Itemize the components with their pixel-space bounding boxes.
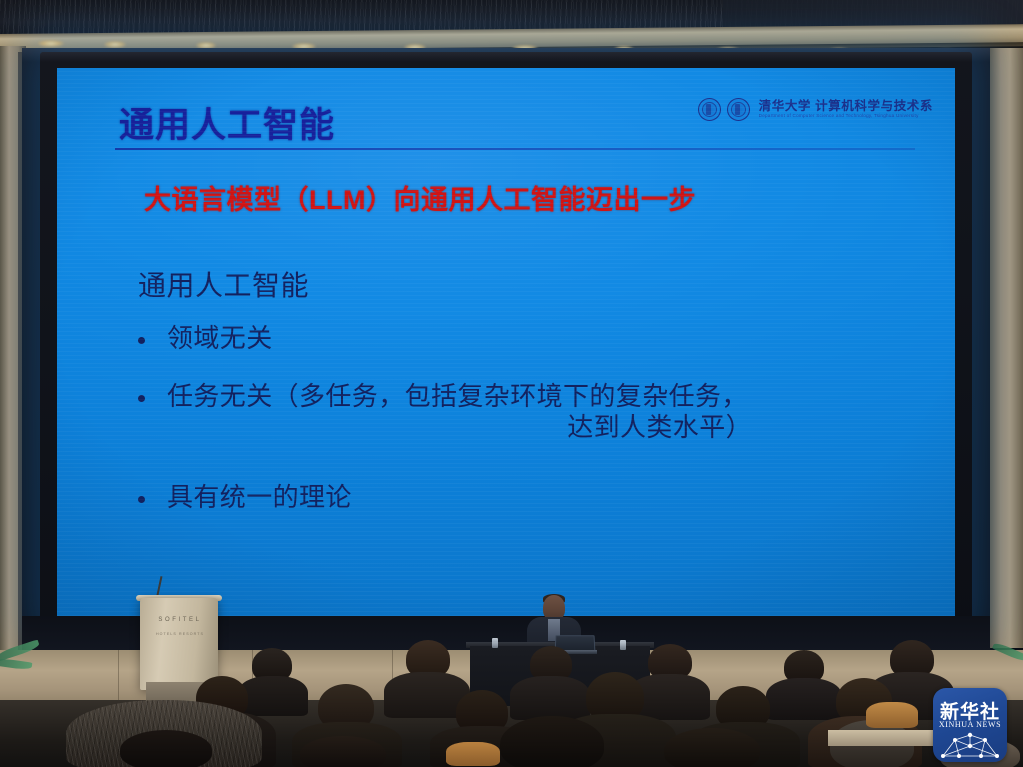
- slide-bullet-1: 领域无关: [138, 323, 273, 354]
- slide-bullet-2: 任务无关（多任务，包括复杂环境下的复杂任务， 达到人类水平）: [138, 381, 867, 442]
- presentation-slide: 通用人工智能 大语言模型（LLM）向通用人工智能迈出一步 通用人工智能 领域无关…: [57, 68, 955, 616]
- wall-pillar-right: [986, 48, 1023, 648]
- audience-head: [300, 736, 386, 767]
- watermark-text-en: XINHUA NEWS: [933, 720, 1007, 729]
- logo-text-en: Department of Computer Science and Techn…: [759, 114, 933, 119]
- audience-head: [500, 716, 604, 767]
- audience-shoulders: [766, 678, 842, 720]
- bullet-dot-icon: [138, 496, 145, 503]
- audience-shoulders: [510, 676, 590, 720]
- cs-dept-seal-icon: [727, 98, 750, 121]
- tsinghua-cs-logo: 清华大学 计算机科学与技术系 Department of Computer Sc…: [698, 98, 933, 121]
- tsinghua-seal-icon: [698, 98, 721, 121]
- slide-bullet-2-line1: 任务无关（多任务，包括复杂环境下的复杂任务，: [167, 381, 748, 411]
- screen-frame-sheen: [22, 48, 990, 62]
- audience-head: [664, 728, 760, 767]
- slide-bullet-2-text-block: 任务无关（多任务，包括复杂环境下的复杂任务， 达到人类水平）: [167, 381, 867, 442]
- slide-bullet-2-line2: 达到人类水平）: [167, 412, 867, 443]
- logo-text-cn: 清华大学 计算机科学与技术系: [759, 100, 933, 113]
- xinhua-news-watermark: 新华社 XINHUA NEWS: [933, 688, 1007, 762]
- slide-bullet-3-text: 具有统一的理论: [167, 482, 352, 513]
- bullet-dot-icon: [138, 395, 145, 402]
- slide-title-underline: [115, 148, 915, 150]
- slide-subtitle: 大语言模型（LLM）向通用人工智能迈出一步: [144, 178, 696, 217]
- water-glass: [492, 638, 498, 648]
- slide-section-heading: 通用人工智能: [138, 264, 309, 304]
- slide-title: 通用人工智能: [119, 97, 335, 148]
- podium: [140, 598, 218, 690]
- table-object: [446, 742, 500, 766]
- bullet-dot-icon: [138, 337, 145, 344]
- network-globe-icon: [933, 730, 1007, 762]
- logo-wordmark: 清华大学 计算机科学与技术系 Department of Computer Sc…: [759, 100, 933, 119]
- slide-bullet-3: 具有统一的理论: [138, 482, 352, 513]
- podium-brand-subtext: HOTELS RESORTS: [152, 632, 208, 637]
- conference-photo-scene: 通用人工智能 大语言模型（LLM）向通用人工智能迈出一步 通用人工智能 领域无关…: [0, 0, 1023, 767]
- slide-bullet-1-text: 领域无关: [167, 323, 273, 354]
- water-glass: [620, 640, 626, 650]
- ceiling-lamp: [38, 40, 64, 47]
- audience-shoulders: [238, 676, 308, 716]
- audience-head: [120, 730, 212, 767]
- table-object: [866, 702, 918, 728]
- podium-brand-text: SOFITEL: [152, 617, 208, 623]
- ceiling-lamp: [104, 41, 126, 48]
